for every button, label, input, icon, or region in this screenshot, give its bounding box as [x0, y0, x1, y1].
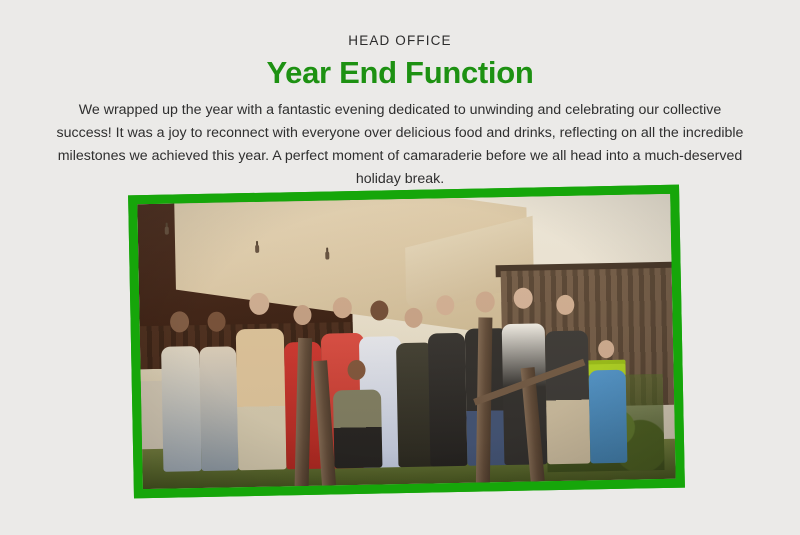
page-title: Year End Function — [0, 54, 800, 92]
person-head — [476, 291, 495, 312]
person-body — [428, 332, 468, 466]
string-light-bulb-icon — [325, 252, 329, 260]
person-kneeling — [332, 359, 382, 468]
eyebrow-label: HEAD OFFICE — [0, 32, 800, 50]
person-body — [199, 347, 239, 471]
person — [161, 311, 201, 471]
page-root: HEAD OFFICE Year End Function We wrapped… — [0, 0, 800, 535]
person-head — [437, 295, 455, 315]
person-head — [293, 305, 311, 325]
person-body — [588, 370, 627, 463]
person — [427, 295, 468, 467]
string-light-bulb-icon — [255, 245, 259, 253]
person — [235, 293, 286, 471]
person-body — [545, 330, 590, 464]
person-head — [208, 311, 226, 331]
person — [544, 292, 590, 464]
group-photo — [137, 194, 675, 489]
person-head — [249, 293, 269, 315]
person-head — [513, 288, 532, 309]
person-head — [557, 294, 575, 314]
person-head — [598, 340, 614, 358]
person-head — [370, 301, 388, 321]
photo-frame — [128, 185, 685, 499]
fence-post — [294, 338, 312, 486]
header-block: HEAD OFFICE Year End Function — [0, 32, 800, 92]
person — [198, 308, 238, 471]
person-head — [405, 307, 423, 327]
person-body — [161, 347, 201, 472]
string-light-bulb-icon — [164, 226, 168, 234]
person — [588, 337, 628, 463]
person-head — [170, 312, 189, 333]
person-head — [332, 297, 351, 318]
person-body — [333, 389, 382, 468]
person-body — [236, 328, 287, 470]
person-head — [347, 359, 365, 379]
body-paragraph: We wrapped up the year with a fantastic … — [55, 99, 745, 191]
